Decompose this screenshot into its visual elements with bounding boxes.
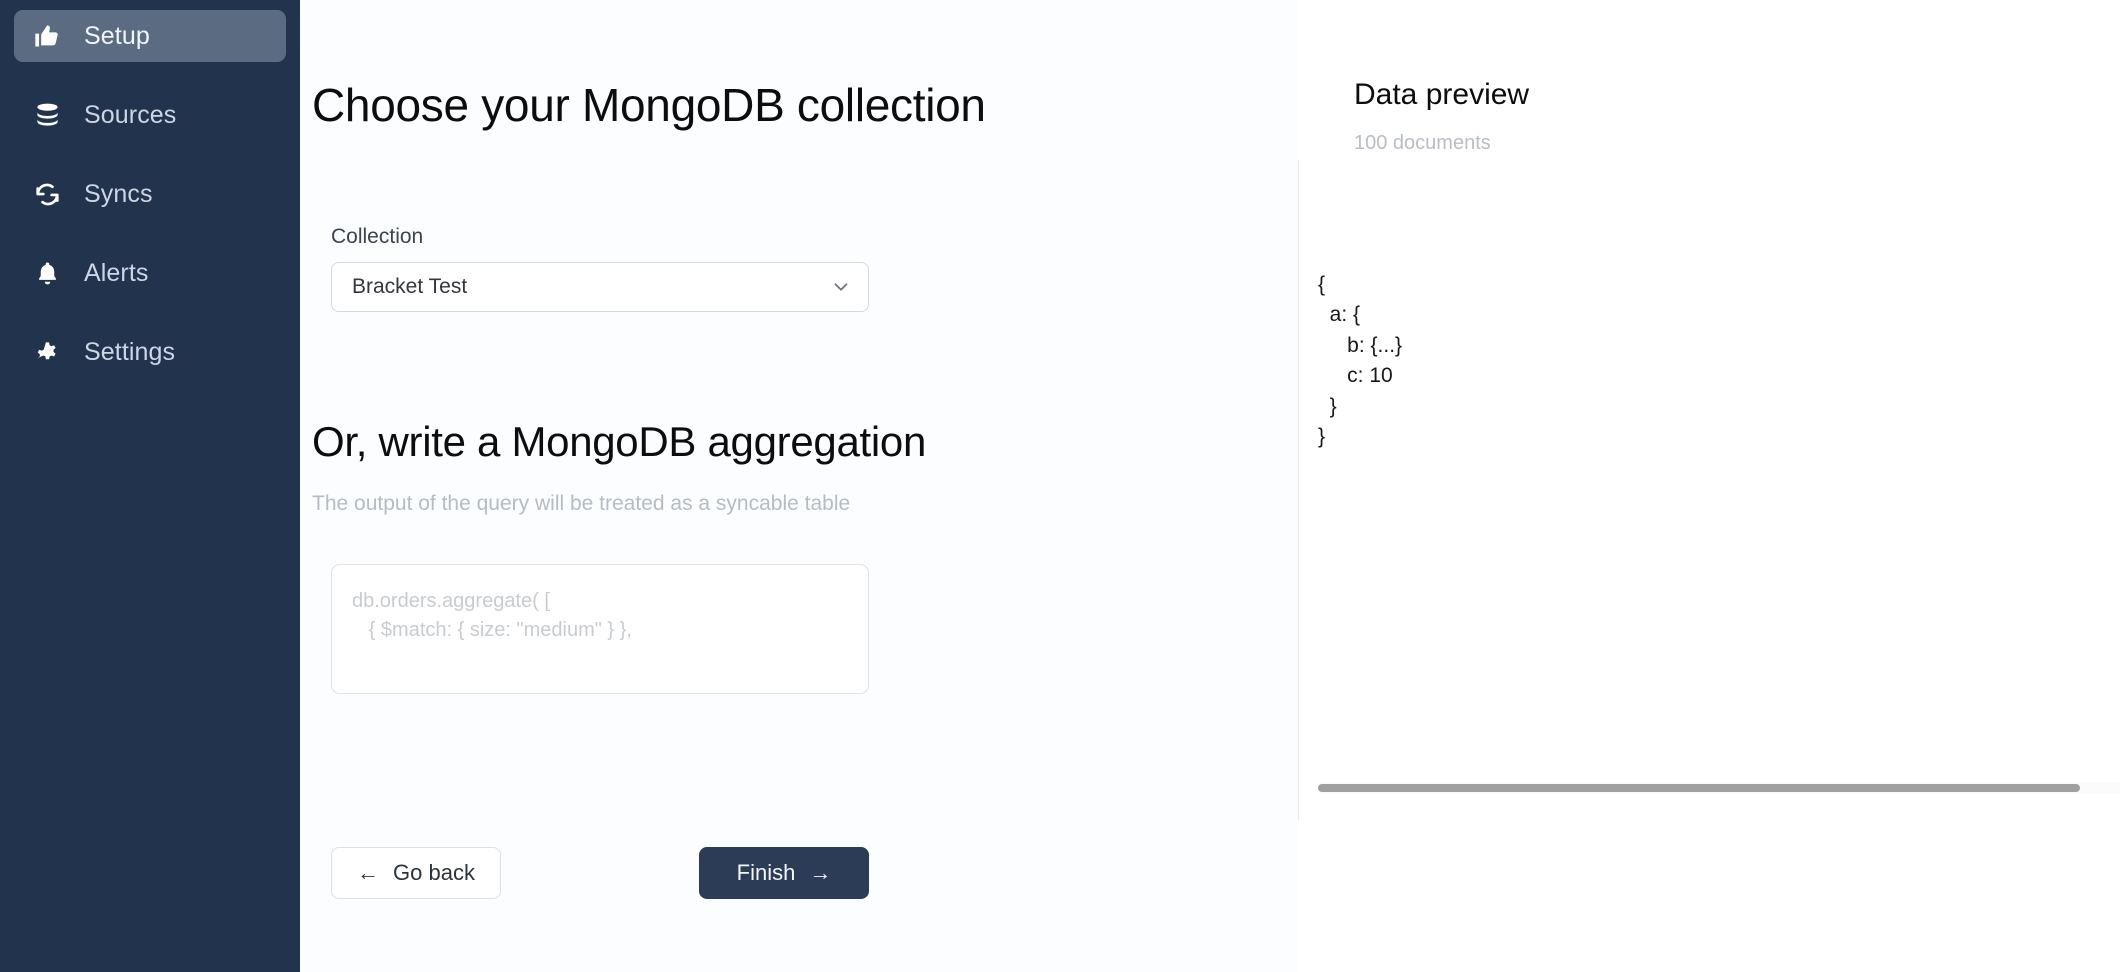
go-back-label: Go back [393, 860, 475, 886]
aggregation-placeholder-line-2: { $match: { size: "medium" } }, [352, 616, 848, 645]
preview-document-count: 100 documents [1354, 132, 1491, 155]
json-line: } [1318, 392, 1402, 422]
form-button-row: ← Go back Finish → [331, 847, 869, 899]
sidebar-item-label: Alerts [84, 261, 149, 286]
gear-icon [32, 337, 62, 367]
collection-label: Collection [331, 225, 423, 249]
sidebar-item-label: Setup [84, 24, 150, 49]
finish-button[interactable]: Finish → [699, 847, 869, 899]
chevron-down-icon [830, 276, 852, 298]
json-line: } [1318, 422, 1402, 452]
bell-icon [32, 258, 62, 288]
finish-label: Finish [737, 860, 796, 886]
sidebar-item-settings[interactable]: Settings [14, 326, 286, 378]
preview-title: Data preview [1354, 78, 1529, 112]
json-document-viewer[interactable]: { a: { b: {...} c: 10 } } [1318, 270, 1402, 453]
aggregation-textarea[interactable]: db.orders.aggregate( [ { $match: { size:… [331, 564, 869, 694]
sidebar-item-label: Sources [84, 103, 176, 128]
preview-horizontal-scrollbar[interactable] [1318, 782, 2120, 794]
page-title: Choose your MongoDB collection [312, 78, 986, 132]
sidebar-item-label: Settings [84, 340, 175, 365]
aggregation-placeholder-line-1: db.orders.aggregate( [ [352, 587, 848, 616]
sidebar-item-syncs[interactable]: Syncs [14, 168, 286, 220]
data-preview-panel: Data preview 100 documents { a: { b: {..… [1298, 0, 2120, 972]
sidebar-item-label: Syncs [84, 182, 153, 207]
setup-form-column: Choose your MongoDB collection Collectio… [300, 0, 1298, 972]
sidebar-item-sources[interactable]: Sources [14, 89, 286, 141]
main-content: Choose your MongoDB collection Collectio… [300, 0, 2120, 972]
arrow-left-icon: ← [357, 862, 379, 884]
json-line[interactable]: b: {...} [1318, 331, 1402, 361]
database-icon [32, 100, 62, 130]
go-back-button[interactable]: ← Go back [331, 847, 501, 899]
sync-icon [32, 179, 62, 209]
sidebar: Setup Sources Syncs [0, 0, 300, 972]
collection-selected-value: Bracket Test [352, 275, 830, 299]
aggregation-subtitle: The output of the query will be treated … [312, 492, 850, 516]
thumbs-up-icon [32, 21, 62, 51]
json-line: a: { [1318, 300, 1402, 330]
sidebar-item-alerts[interactable]: Alerts [14, 247, 286, 299]
json-line: c: 10 [1318, 361, 1402, 391]
json-line: { [1318, 270, 1402, 300]
collection-select[interactable]: Bracket Test [331, 262, 869, 312]
aggregation-title: Or, write a MongoDB aggregation [312, 418, 926, 466]
arrow-right-icon: → [809, 862, 831, 884]
panel-divider [1298, 160, 1299, 820]
sidebar-item-setup[interactable]: Setup [14, 10, 286, 62]
scrollbar-thumb-horizontal[interactable] [1318, 784, 2080, 792]
app-root: Setup Sources Syncs [0, 0, 2120, 972]
